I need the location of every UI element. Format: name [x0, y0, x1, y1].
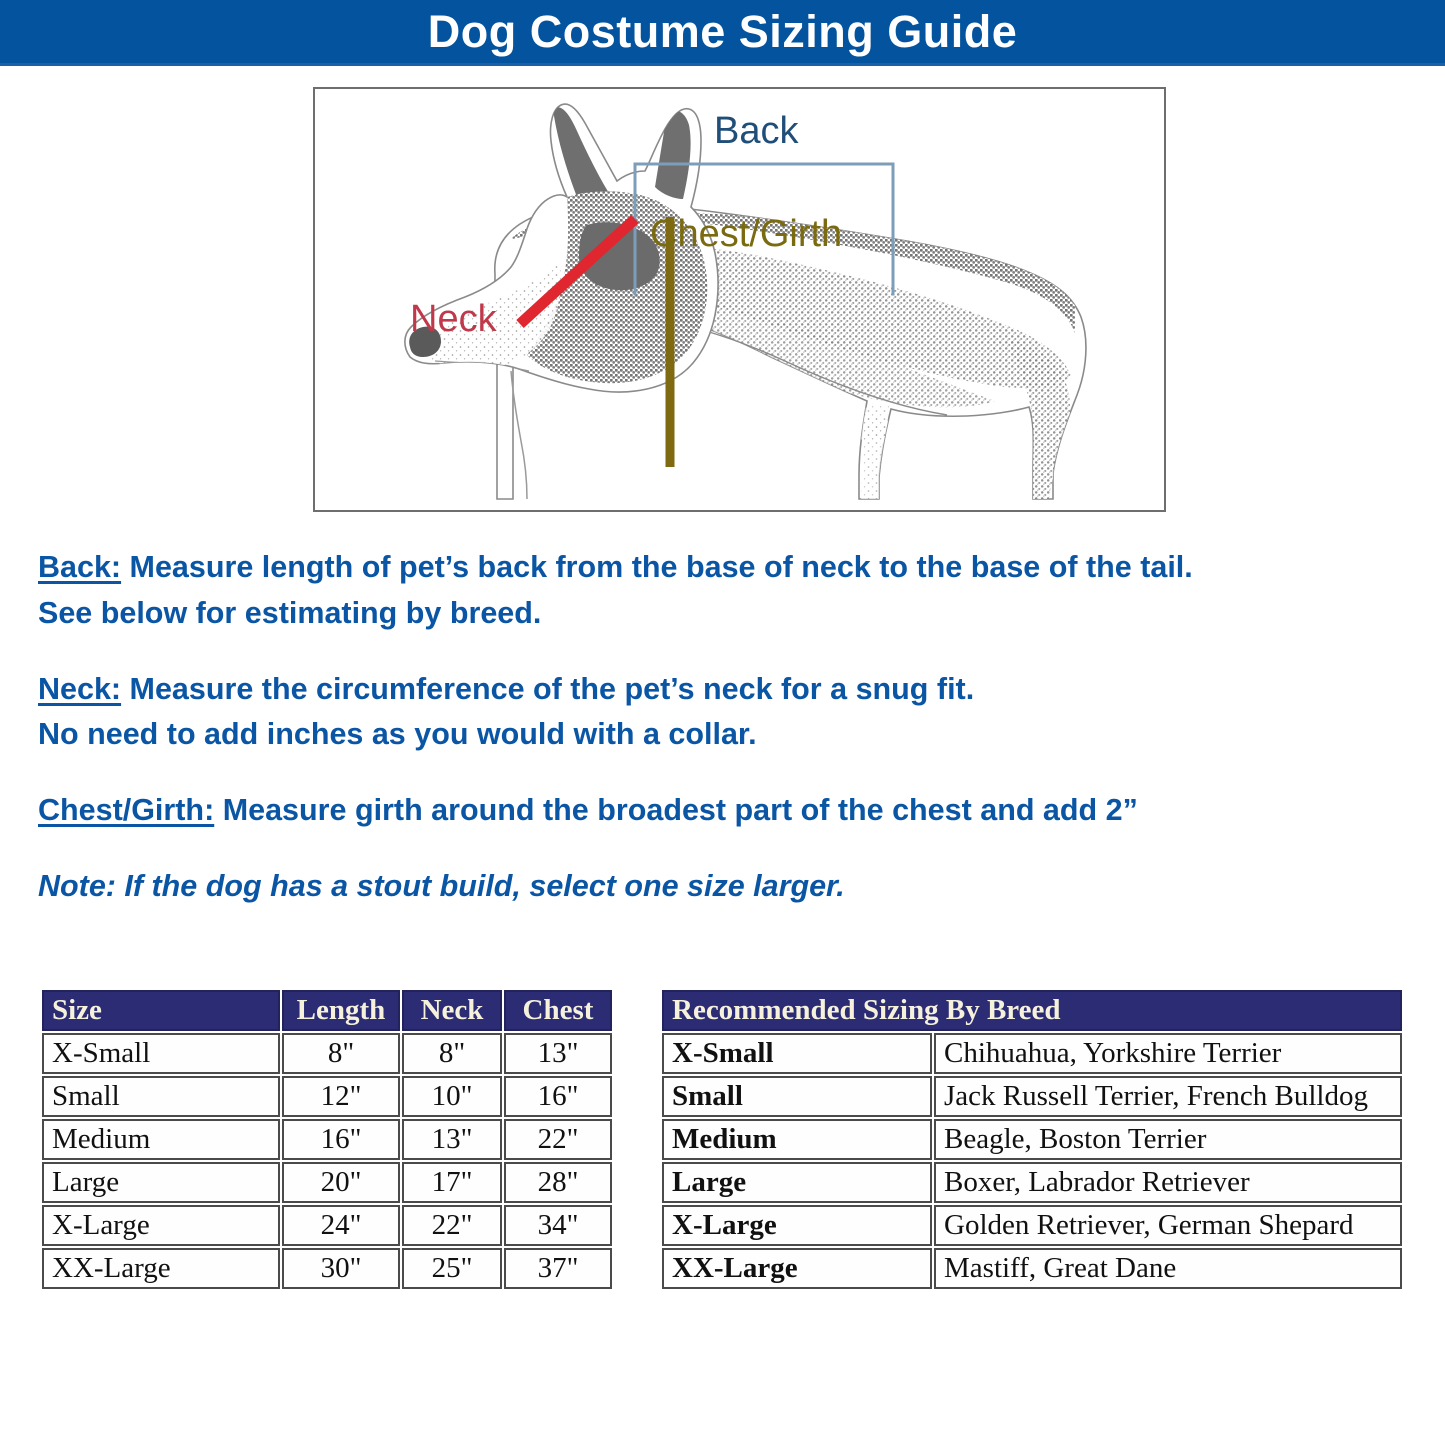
size-table-header-chest: Chest	[504, 990, 612, 1031]
label-back: Back	[714, 112, 798, 150]
page-header-banner: Dog Costume Sizing Guide	[0, 0, 1445, 66]
size-measurement-table: Size Length Neck Chest X-Small 8" 8" 13"…	[40, 988, 614, 1291]
breed-size-cell: XX-Large	[662, 1248, 932, 1289]
chest-cell: 22"	[504, 1119, 612, 1160]
instruction-back-line2: See below for estimating by breed.	[38, 596, 541, 630]
breed-names-cell: Mastiff, Great Dane	[934, 1248, 1402, 1289]
table-row: X-Small Chihuahua, Yorkshire Terrier	[662, 1033, 1402, 1074]
instruction-neck-line2: No need to add inches as you would with …	[38, 717, 757, 751]
table-row: Large Boxer, Labrador Retriever	[662, 1162, 1402, 1203]
chest-cell: 13"	[504, 1033, 612, 1074]
neck-cell: 17"	[402, 1162, 502, 1203]
neck-cell: 22"	[402, 1205, 502, 1246]
page-title: Dog Costume Sizing Guide	[428, 9, 1018, 54]
breed-size-cell: X-Large	[662, 1205, 932, 1246]
table-row: Small Jack Russell Terrier, French Bulld…	[662, 1076, 1402, 1117]
instruction-note: Note: If the dog has a stout build, sele…	[38, 864, 1408, 910]
neck-cell: 10"	[402, 1076, 502, 1117]
neck-cell: 13"	[402, 1119, 502, 1160]
neck-cell: 25"	[402, 1248, 502, 1289]
size-table-header-row: Size Length Neck Chest	[42, 990, 612, 1031]
instruction-chest-body: Measure girth around the broadest part o…	[214, 793, 1138, 827]
label-neck: Neck	[410, 300, 497, 338]
instruction-neck-term: Neck:	[38, 672, 121, 706]
measuring-instructions: Back: Measure length of pet’s back from …	[38, 545, 1408, 910]
breed-size-cell: Medium	[662, 1119, 932, 1160]
breed-size-cell: X-Small	[662, 1033, 932, 1074]
size-table-header-length: Length	[282, 990, 400, 1031]
table-row: X-Small 8" 8" 13"	[42, 1033, 612, 1074]
instruction-back-term: Back:	[38, 550, 121, 584]
instruction-chest-term: Chest/Girth:	[38, 793, 214, 827]
instruction-chest: Chest/Girth: Measure girth around the br…	[38, 788, 1408, 834]
instruction-neck-body: Measure the circumference of the pet’s n…	[121, 672, 974, 706]
chest-cell: 37"	[504, 1248, 612, 1289]
size-cell: Medium	[42, 1119, 280, 1160]
length-cell: 30"	[282, 1248, 400, 1289]
breed-names-cell: Jack Russell Terrier, French Bulldog	[934, 1076, 1402, 1117]
size-cell: XX-Large	[42, 1248, 280, 1289]
instruction-back: Back: Measure length of pet’s back from …	[38, 545, 1408, 637]
size-cell: X-Small	[42, 1033, 280, 1074]
breed-names-cell: Golden Retriever, German Shepard	[934, 1205, 1402, 1246]
breed-names-cell: Boxer, Labrador Retriever	[934, 1162, 1402, 1203]
table-row: XX-Large Mastiff, Great Dane	[662, 1248, 1402, 1289]
size-table-header-neck: Neck	[402, 990, 502, 1031]
chest-cell: 16"	[504, 1076, 612, 1117]
neck-cell: 8"	[402, 1033, 502, 1074]
breed-table-title: Recommended Sizing By Breed	[662, 990, 1402, 1031]
instruction-back-body: Measure length of pet’s back from the ba…	[121, 550, 1193, 584]
breed-names-cell: Beagle, Boston Terrier	[934, 1119, 1402, 1160]
size-cell: Large	[42, 1162, 280, 1203]
length-cell: 12"	[282, 1076, 400, 1117]
size-table-header-size: Size	[42, 990, 280, 1031]
size-cell: Small	[42, 1076, 280, 1117]
table-row: Large 20" 17" 28"	[42, 1162, 612, 1203]
chest-cell: 28"	[504, 1162, 612, 1203]
instruction-neck: Neck: Measure the circumference of the p…	[38, 667, 1408, 759]
table-row: XX-Large 30" 25" 37"	[42, 1248, 612, 1289]
breed-names-cell: Chihuahua, Yorkshire Terrier	[934, 1033, 1402, 1074]
length-cell: 16"	[282, 1119, 400, 1160]
breed-size-cell: Large	[662, 1162, 932, 1203]
size-cell: X-Large	[42, 1205, 280, 1246]
table-row: Medium Beagle, Boston Terrier	[662, 1119, 1402, 1160]
instruction-note-body: Note: If the dog has a stout build, sele…	[38, 869, 845, 903]
length-cell: 20"	[282, 1162, 400, 1203]
table-row: Small 12" 10" 16"	[42, 1076, 612, 1117]
length-cell: 8"	[282, 1033, 400, 1074]
table-row: X-Large Golden Retriever, German Shepard	[662, 1205, 1402, 1246]
breed-table-header-row: Recommended Sizing By Breed	[662, 990, 1402, 1031]
breed-sizing-table: Recommended Sizing By Breed X-Small Chih…	[660, 988, 1404, 1291]
label-chest-girth: Chest/Girth	[650, 215, 842, 253]
table-row: X-Large 24" 22" 34"	[42, 1205, 612, 1246]
chest-cell: 34"	[504, 1205, 612, 1246]
table-row: Medium 16" 13" 22"	[42, 1119, 612, 1160]
length-cell: 24"	[282, 1205, 400, 1246]
breed-size-cell: Small	[662, 1076, 932, 1117]
